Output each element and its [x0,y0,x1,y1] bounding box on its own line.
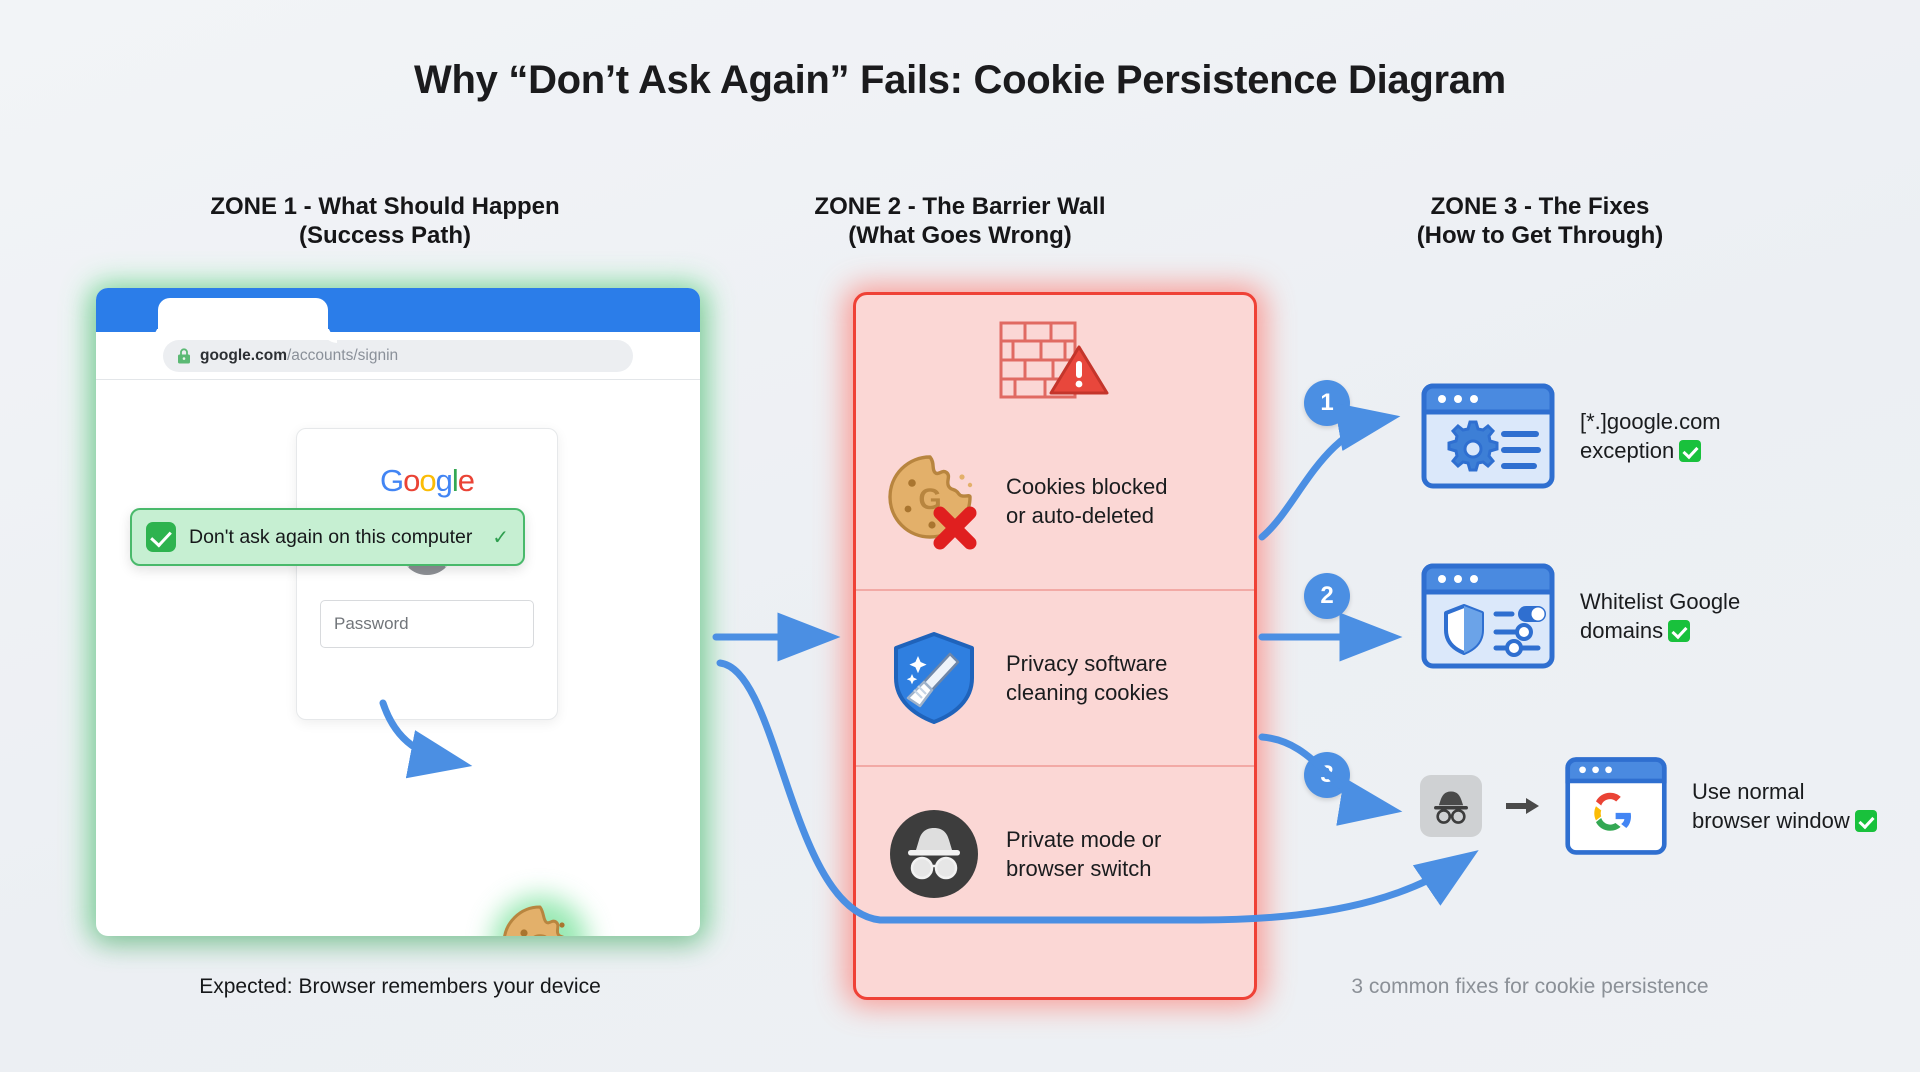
browser-toolbar: google.com/accounts/signin [96,332,700,380]
browser-settings-gear-icon [1420,382,1556,490]
google-cookie-icon: G [500,903,580,936]
zone3-footer: 3 common fixes for cookie persistence [1150,975,1910,999]
logo-letter: G [380,463,403,498]
browser-window-mockup: google.com/accounts/signin Google Passwo… [96,288,700,936]
dont-ask-again-checkbox-row[interactable]: Don't ask again on this computer ✓ [130,508,525,566]
brick-wall-warning-icon [995,317,1115,403]
transition-arrow-icon [1506,796,1540,816]
address-bar[interactable]: google.com/accounts/signin [163,340,633,372]
zone1-heading-line1: ZONE 1 - What Should Happen [210,193,559,220]
arrow-barrier1-to-fix1 [1262,418,1390,537]
barrier-item: G Cookies blocked or auto-deleted [856,413,1254,589]
google-signin-card: Google Password [296,428,558,720]
check-icon[interactable] [146,522,176,552]
fix-item: [*.]google.com exception [1420,382,1721,490]
password-field[interactable]: Password [320,600,534,648]
logo-letter: e [458,463,474,498]
fix-text-line1: [*.]google.com [1580,409,1721,434]
fix-text: Use normal browser window [1692,777,1877,836]
barrier-wall-panel: G Cookies blocked or auto-deleted [853,292,1257,1000]
zone1-heading: ZONE 1 - What Should Happen (Success Pat… [60,192,710,251]
google-logo: Google [380,463,474,499]
fix-text-line2: browser window [1692,808,1850,833]
barrier-item: Private mode or browser switch [856,765,1254,941]
cookie-blocked-icon: G [884,451,984,551]
fix-item: Use normal browser window [1420,752,1877,860]
barrier-text: Private mode or browser switch [1006,825,1161,884]
barrier-text-line2: or auto-deleted [1006,503,1154,528]
barrier-text-line2: browser switch [1006,856,1151,881]
shield-broom-icon [884,628,984,728]
barrier-text-line1: Privacy software [1006,651,1167,676]
address-bar-text: google.com/accounts/signin [200,347,398,365]
fix-text-line2: domains [1580,618,1663,643]
dont-ask-again-label: Don't ask again on this computer [189,526,472,549]
barrier-text: Cookies blocked or auto-deleted [1006,472,1167,531]
incognito-mode-icon [1420,775,1482,837]
fix-text: [*.]google.com exception [1580,407,1721,466]
zone2-heading: ZONE 2 - The Barrier Wall (What Goes Wro… [750,192,1170,251]
fix-text-line2: exception [1580,438,1674,463]
normal-browser-google-icon [1564,752,1668,860]
incognito-glyph-icon [1430,788,1472,824]
browser-shield-toggles-icon [1420,562,1556,670]
zone3-heading-line1: ZONE 3 - The Fixes [1431,193,1650,220]
diagram-canvas: Why “Don’t Ask Again” Fails: Cookie Pers… [0,0,1920,1072]
zone2-heading-line2: (What Goes Wrong) [750,221,1170,250]
incognito-icon [884,804,984,904]
fix-text-line1: Whitelist Google [1580,589,1740,614]
barrier-text: Privacy software cleaning cookies [1006,649,1169,708]
zone1-heading-line2: (Success Path) [60,221,710,250]
fix-text-line1: Use normal [1692,779,1804,804]
zone2-heading-line1: ZONE 2 - The Barrier Wall [814,193,1105,220]
zone3-heading-line2: (How to Get Through) [1230,221,1850,250]
logo-letter: o [403,463,419,498]
logo-letter: g [436,463,452,498]
logo-letter: o [419,463,435,498]
lock-icon [177,348,191,364]
page-title: Why “Don’t Ask Again” Fails: Cookie Pers… [0,58,1920,103]
confirm-tick-icon: ✓ [492,525,509,550]
browser-tab[interactable] [158,298,328,338]
success-check-icon [1668,620,1690,642]
browser-titlebar [96,288,700,332]
success-check-icon [1679,440,1701,462]
fix-text: Whitelist Google domains [1580,587,1740,646]
svg-text:G: G [528,929,551,936]
barrier-text-line2: cleaning cookies [1006,680,1169,705]
fix-number-badge: 1 [1304,380,1350,426]
fix-number-badge: 2 [1304,573,1350,619]
fix-number-badge: 3 [1304,752,1350,798]
success-check-icon [1855,810,1877,832]
barrier-text-line1: Cookies blocked [1006,474,1167,499]
barrier-text-line1: Private mode or [1006,827,1161,852]
barrier-item: Privacy software cleaning cookies [856,589,1254,765]
zone1-footer: Expected: Browser remembers your device [60,975,740,999]
fix-item: Whitelist Google domains [1420,562,1740,670]
zone3-heading: ZONE 3 - The Fixes (How to Get Through) [1230,192,1850,251]
